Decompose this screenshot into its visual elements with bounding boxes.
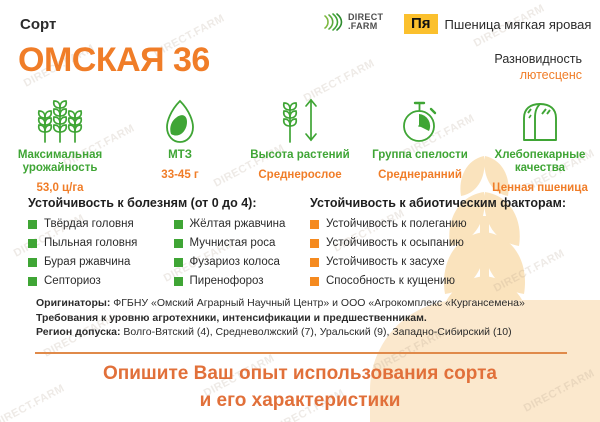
page-title: ОМСКАЯ 36	[18, 41, 210, 80]
stat-tkw: МТЗ 33-45 г	[120, 96, 240, 194]
stat-value: 53,0 ц/га	[0, 182, 120, 194]
stopwatch-icon	[360, 96, 480, 144]
green-swatch-icon	[28, 258, 37, 267]
orange-swatch-icon	[310, 239, 319, 248]
originators-line: Оригинаторы: ФГБНУ «Омский Аграрный Науч…	[36, 296, 576, 311]
stats-row: Максимальная урожайность 53,0 ц/га МТЗ 3…	[0, 96, 600, 194]
list-item-label: Мучнистая роса	[190, 237, 276, 249]
seed-drop-icon	[120, 96, 240, 144]
logo-line-2: .FARM	[348, 22, 383, 32]
orange-swatch-icon	[310, 277, 319, 286]
originators-label: Оригинаторы:	[36, 297, 110, 309]
crop-tag: Пя	[404, 14, 438, 34]
list-item: Устойчивость к засухе	[310, 256, 595, 268]
footer-divider	[35, 352, 567, 354]
region-value: Волго-Вятский (4), Средневолжский (7), У…	[121, 326, 512, 338]
list-item: Жёлтая ржавчина	[174, 218, 314, 230]
direct-farm-wave-icon	[322, 12, 344, 32]
list-item: Способность к кущению	[310, 275, 595, 287]
stat-value: Среднеранний	[360, 169, 480, 181]
region-label: Регион допуска:	[36, 326, 121, 338]
disease-column-2: Жёлтая ржавчина Мучнистая роса Фузариоз …	[174, 218, 314, 294]
green-swatch-icon	[28, 277, 37, 286]
logo-text: DIRECT .FARM	[348, 13, 383, 32]
green-swatch-icon	[174, 239, 183, 248]
variety-label: Разновидность	[494, 52, 582, 66]
list-item-label: Устойчивость к полеганию	[326, 218, 467, 230]
stat-label: МТЗ	[120, 149, 240, 162]
orange-swatch-icon	[310, 220, 319, 229]
green-swatch-icon	[174, 258, 183, 267]
stat-height: Высота растений Среднерослое	[240, 96, 360, 194]
list-item: Септориоз	[28, 275, 168, 287]
green-swatch-icon	[174, 220, 183, 229]
cta-line-2: и его характеристики	[0, 387, 600, 414]
variety-block: Разновидность лютесценс	[494, 52, 582, 82]
list-item: Твёрдая головня	[28, 218, 168, 230]
originators-value: ФГБНУ «Омский Аграрный Научный Центр» и …	[110, 297, 524, 309]
cta-text: Опишите Ваш опыт использования сорта и е…	[0, 360, 600, 414]
list-item: Устойчивость к осыпанию	[310, 237, 595, 249]
region-line: Регион допуска: Волго-Вятский (4), Средн…	[36, 325, 576, 340]
list-item-label: Пыльная головня	[44, 237, 137, 249]
abiotic-resistance-section: Устойчивость к абиотическим факторам: Ус…	[310, 196, 595, 294]
stat-label: Группа спелости	[360, 149, 480, 162]
stat-label: Высота растений	[240, 149, 360, 162]
disease-resistance-heading: Устойчивость к болезням (от 0 до 4):	[28, 196, 313, 210]
sort-label: Сорт	[20, 16, 56, 33]
list-item-label: Устойчивость к осыпанию	[326, 237, 464, 249]
disease-column-1: Твёрдая головня Пыльная головня Бурая рж…	[28, 218, 168, 294]
info-block: Оригинаторы: ФГБНУ «Омский Аграрный Науч…	[36, 296, 576, 340]
list-item-label: Способность к кущению	[326, 275, 455, 287]
wheat-stalks-icon	[0, 96, 120, 144]
stat-label: Хлебопекарные качества	[480, 149, 600, 175]
plant-height-arrow-icon	[240, 96, 360, 144]
stat-value: Среднерослое	[240, 169, 360, 181]
variety-value: лютесценс	[494, 68, 582, 82]
list-item-label: Жёлтая ржавчина	[190, 218, 286, 230]
crop-type-badge: Пя Пшеница мягкая яровая	[404, 14, 591, 34]
stat-value: Ценная пшеница	[480, 182, 600, 194]
list-item-label: Твёрдая головня	[44, 218, 134, 230]
list-item: Мучнистая роса	[174, 237, 314, 249]
disease-resistance-section: Устойчивость к болезням (от 0 до 4): Твё…	[28, 196, 313, 294]
list-item-label: Пиренофороз	[190, 275, 264, 287]
green-swatch-icon	[28, 220, 37, 229]
list-item: Устойчивость к полеганию	[310, 218, 595, 230]
direct-farm-logo[interactable]: DIRECT .FARM	[322, 12, 383, 32]
crop-name: Пшеница мягкая яровая	[445, 17, 592, 32]
green-swatch-icon	[174, 277, 183, 286]
list-item-label: Бурая ржавчина	[44, 256, 130, 268]
abiotic-resistance-heading: Устойчивость к абиотическим факторам:	[310, 196, 595, 210]
stat-label: Максимальная урожайность	[0, 149, 120, 175]
stat-ripening: Группа спелости Среднеранний	[360, 96, 480, 194]
cta-line-1: Опишите Ваш опыт использования сорта	[0, 360, 600, 387]
orange-swatch-icon	[310, 258, 319, 267]
list-item-label: Фузариоз колоса	[190, 256, 280, 268]
variety-info-card: DIRECT.FARM DIRECT.FARM DIRECT.FARM DIRE…	[0, 0, 600, 422]
green-swatch-icon	[28, 239, 37, 248]
list-item-label: Устойчивость к засухе	[326, 256, 445, 268]
stat-value: 33-45 г	[120, 169, 240, 181]
bread-loaf-icon	[480, 96, 600, 144]
requirements-text: Требования к уровню агротехники, интенси…	[36, 312, 427, 324]
list-item: Пиренофороз	[174, 275, 314, 287]
list-item: Пыльная головня	[28, 237, 168, 249]
requirements-line: Требования к уровню агротехники, интенси…	[36, 311, 576, 326]
list-item: Бурая ржавчина	[28, 256, 168, 268]
stat-yield: Максимальная урожайность 53,0 ц/га	[0, 96, 120, 194]
stat-baking: Хлебопекарные качества Ценная пшеница	[480, 96, 600, 194]
list-item: Фузариоз колоса	[174, 256, 314, 268]
list-item-label: Септориоз	[44, 275, 101, 287]
